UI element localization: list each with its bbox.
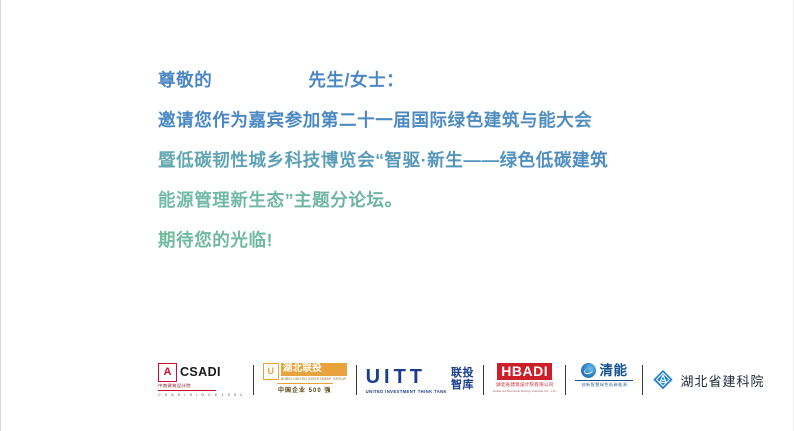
csadi-rule <box>158 390 216 391</box>
uitt-name-cn-group: 联投 智库 <box>451 368 474 391</box>
csadi-lockup: A CSADI <box>158 363 221 382</box>
hubei-liantou-rule <box>277 383 333 384</box>
logo-hubei-liantou: U 湖北联投 HUBEI UNITED INVESTMENT GROUP 中国企… <box>254 363 356 397</box>
csadi-wordmark: CSADI <box>180 366 221 379</box>
invitation-text-block: 尊敬的先生/女士： 邀请您作为嘉宾参加第二十一届国际绿色建筑与能大会 暨低碳韧性… <box>158 60 658 260</box>
logo-hbadi: HBADI 湖北省建筑设计院有限公司 Hubei Architectural D… <box>484 363 565 397</box>
sponsor-logo-strip: A CSADI 中南建筑设计院 C S A D I S I N C E 1 9 … <box>149 360 773 400</box>
invitation-slide: 尊敬的先生/女士： 邀请您作为嘉宾参加第二十一届国际绿色建筑与能大会 暨低碳韧性… <box>0 0 794 431</box>
invitation-line-2: 邀请您作为嘉宾参加第二十一届国际绿色建筑与能大会 <box>158 100 658 140</box>
invitation-line-5: 期待您的光临! <box>158 220 658 260</box>
invitation-line-salutation: 尊敬的先生/女士： <box>158 60 658 100</box>
csadi-mark-icon: A <box>158 363 177 382</box>
csadi-name-en: C S A D I S I N C E 1 9 5 2 <box>158 393 244 397</box>
qingneng-wave-icon <box>581 363 596 378</box>
hubei-jianke-diamond-icon <box>652 369 674 391</box>
invitation-line-3: 暨低碳韧性城乡科技博览会“智驱·新生——绿色低碳建筑 <box>158 140 658 180</box>
qingneng-name-cn: 清能 <box>599 364 627 378</box>
uitt-wordmark: UITT <box>366 367 426 387</box>
logo-hubei-jianke: 湖北省建科院 <box>643 363 773 397</box>
hubei-liantou-lockup: U 湖北联投 HUBEI UNITED INVESTMENT GROUP <box>263 363 347 381</box>
hubei-liantou-name-cn: 湖北联投 <box>281 363 347 376</box>
hubei-liantou-name-en: HUBEI UNITED INVESTMENT GROUP <box>281 377 347 381</box>
hubei-jianke-name-cn: 湖北省建科院 <box>680 371 764 390</box>
hbadi-wordmark: HBADI <box>497 363 552 380</box>
qingneng-lockup: 清能 <box>581 363 627 378</box>
csadi-name-cn: 中南建筑设计院 <box>158 383 191 389</box>
invitation-line-4: 能源管理新生态”主题分论坛。 <box>158 180 658 220</box>
hbadi-name-cn: 湖北省建筑设计院有限公司 <box>496 382 554 388</box>
salutation-prefix: 尊敬的 <box>158 70 212 90</box>
hubei-liantou-award: 中国企业 500 强 <box>278 385 331 394</box>
uitt-name-en: UNITED INVESTMENT THINK TANK <box>366 389 447 394</box>
qingneng-name-sub: 创新智慧绿色低碳能源 <box>581 382 627 388</box>
uitt-lockup: UITT UNITED INVESTMENT THINK TANK <box>366 367 447 394</box>
salutation-suffix: 先生/女士： <box>308 70 404 90</box>
hbadi-name-en: Hubei Architectural Design Institute Co.… <box>493 389 556 393</box>
uitt-name-cn-line2: 智库 <box>451 380 474 392</box>
logo-uitt: UITT UNITED INVESTMENT THINK TANK 联投 智库 <box>357 363 483 397</box>
logo-csadi: A CSADI 中南建筑设计院 C S A D I S I N C E 1 9 … <box>149 363 253 397</box>
qingneng-rule <box>575 380 633 381</box>
logo-qingneng: 清能 创新智慧绿色低碳能源 <box>566 363 642 397</box>
hubei-liantou-name-group: 湖北联投 HUBEI UNITED INVESTMENT GROUP <box>281 363 347 381</box>
hubei-liantou-mark-icon: U <box>263 363 279 380</box>
